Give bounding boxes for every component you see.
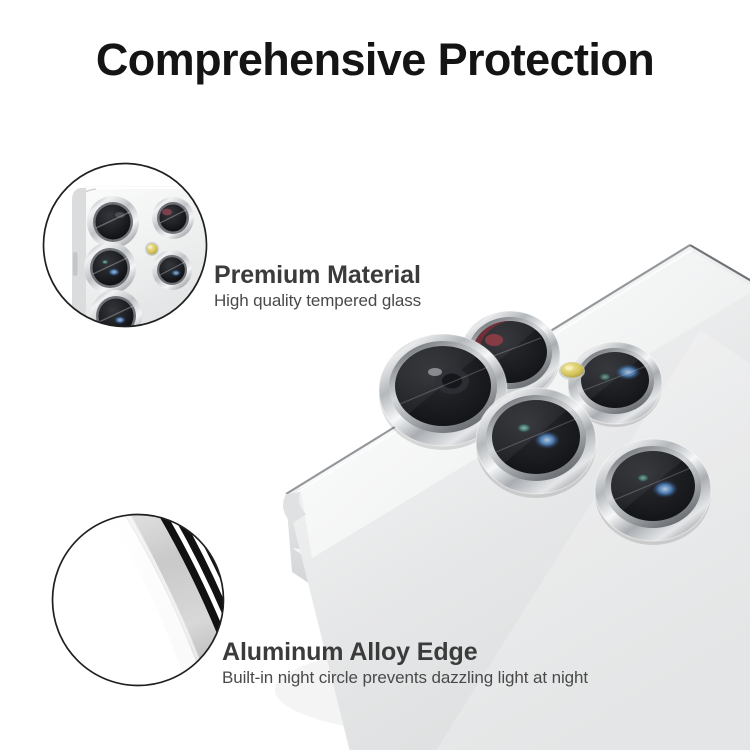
periscope-lens (595, 439, 711, 545)
inset-lens-4 (152, 250, 192, 290)
led-flash (559, 362, 585, 380)
inset-camera-cluster (40, 160, 212, 342)
inset-lens-5 (90, 290, 142, 342)
inset-lens-2 (152, 197, 194, 239)
inset-lens-3 (84, 242, 136, 294)
callout-title: Aluminum Alloy Edge (222, 639, 588, 667)
callout-aluminum-alloy-edge: Aluminum Alloy Edge Built-in night circl… (222, 639, 588, 687)
inset-side-button (73, 252, 78, 276)
marketing-graphic-canvas: Comprehensive Protection Premium Materia… (0, 0, 750, 750)
callout-premium-material: Premium Material High quality tempered g… (214, 262, 421, 310)
callout-subtitle: Built-in night circle prevents dazzling … (222, 668, 588, 688)
inset-lens-1 (87, 196, 139, 248)
callout-subtitle: High quality tempered glass (214, 291, 421, 311)
callout-title: Premium Material (214, 262, 421, 290)
page-title: Comprehensive Protection (0, 36, 750, 83)
inset-led-flash (145, 242, 159, 256)
main-lens (476, 388, 596, 498)
